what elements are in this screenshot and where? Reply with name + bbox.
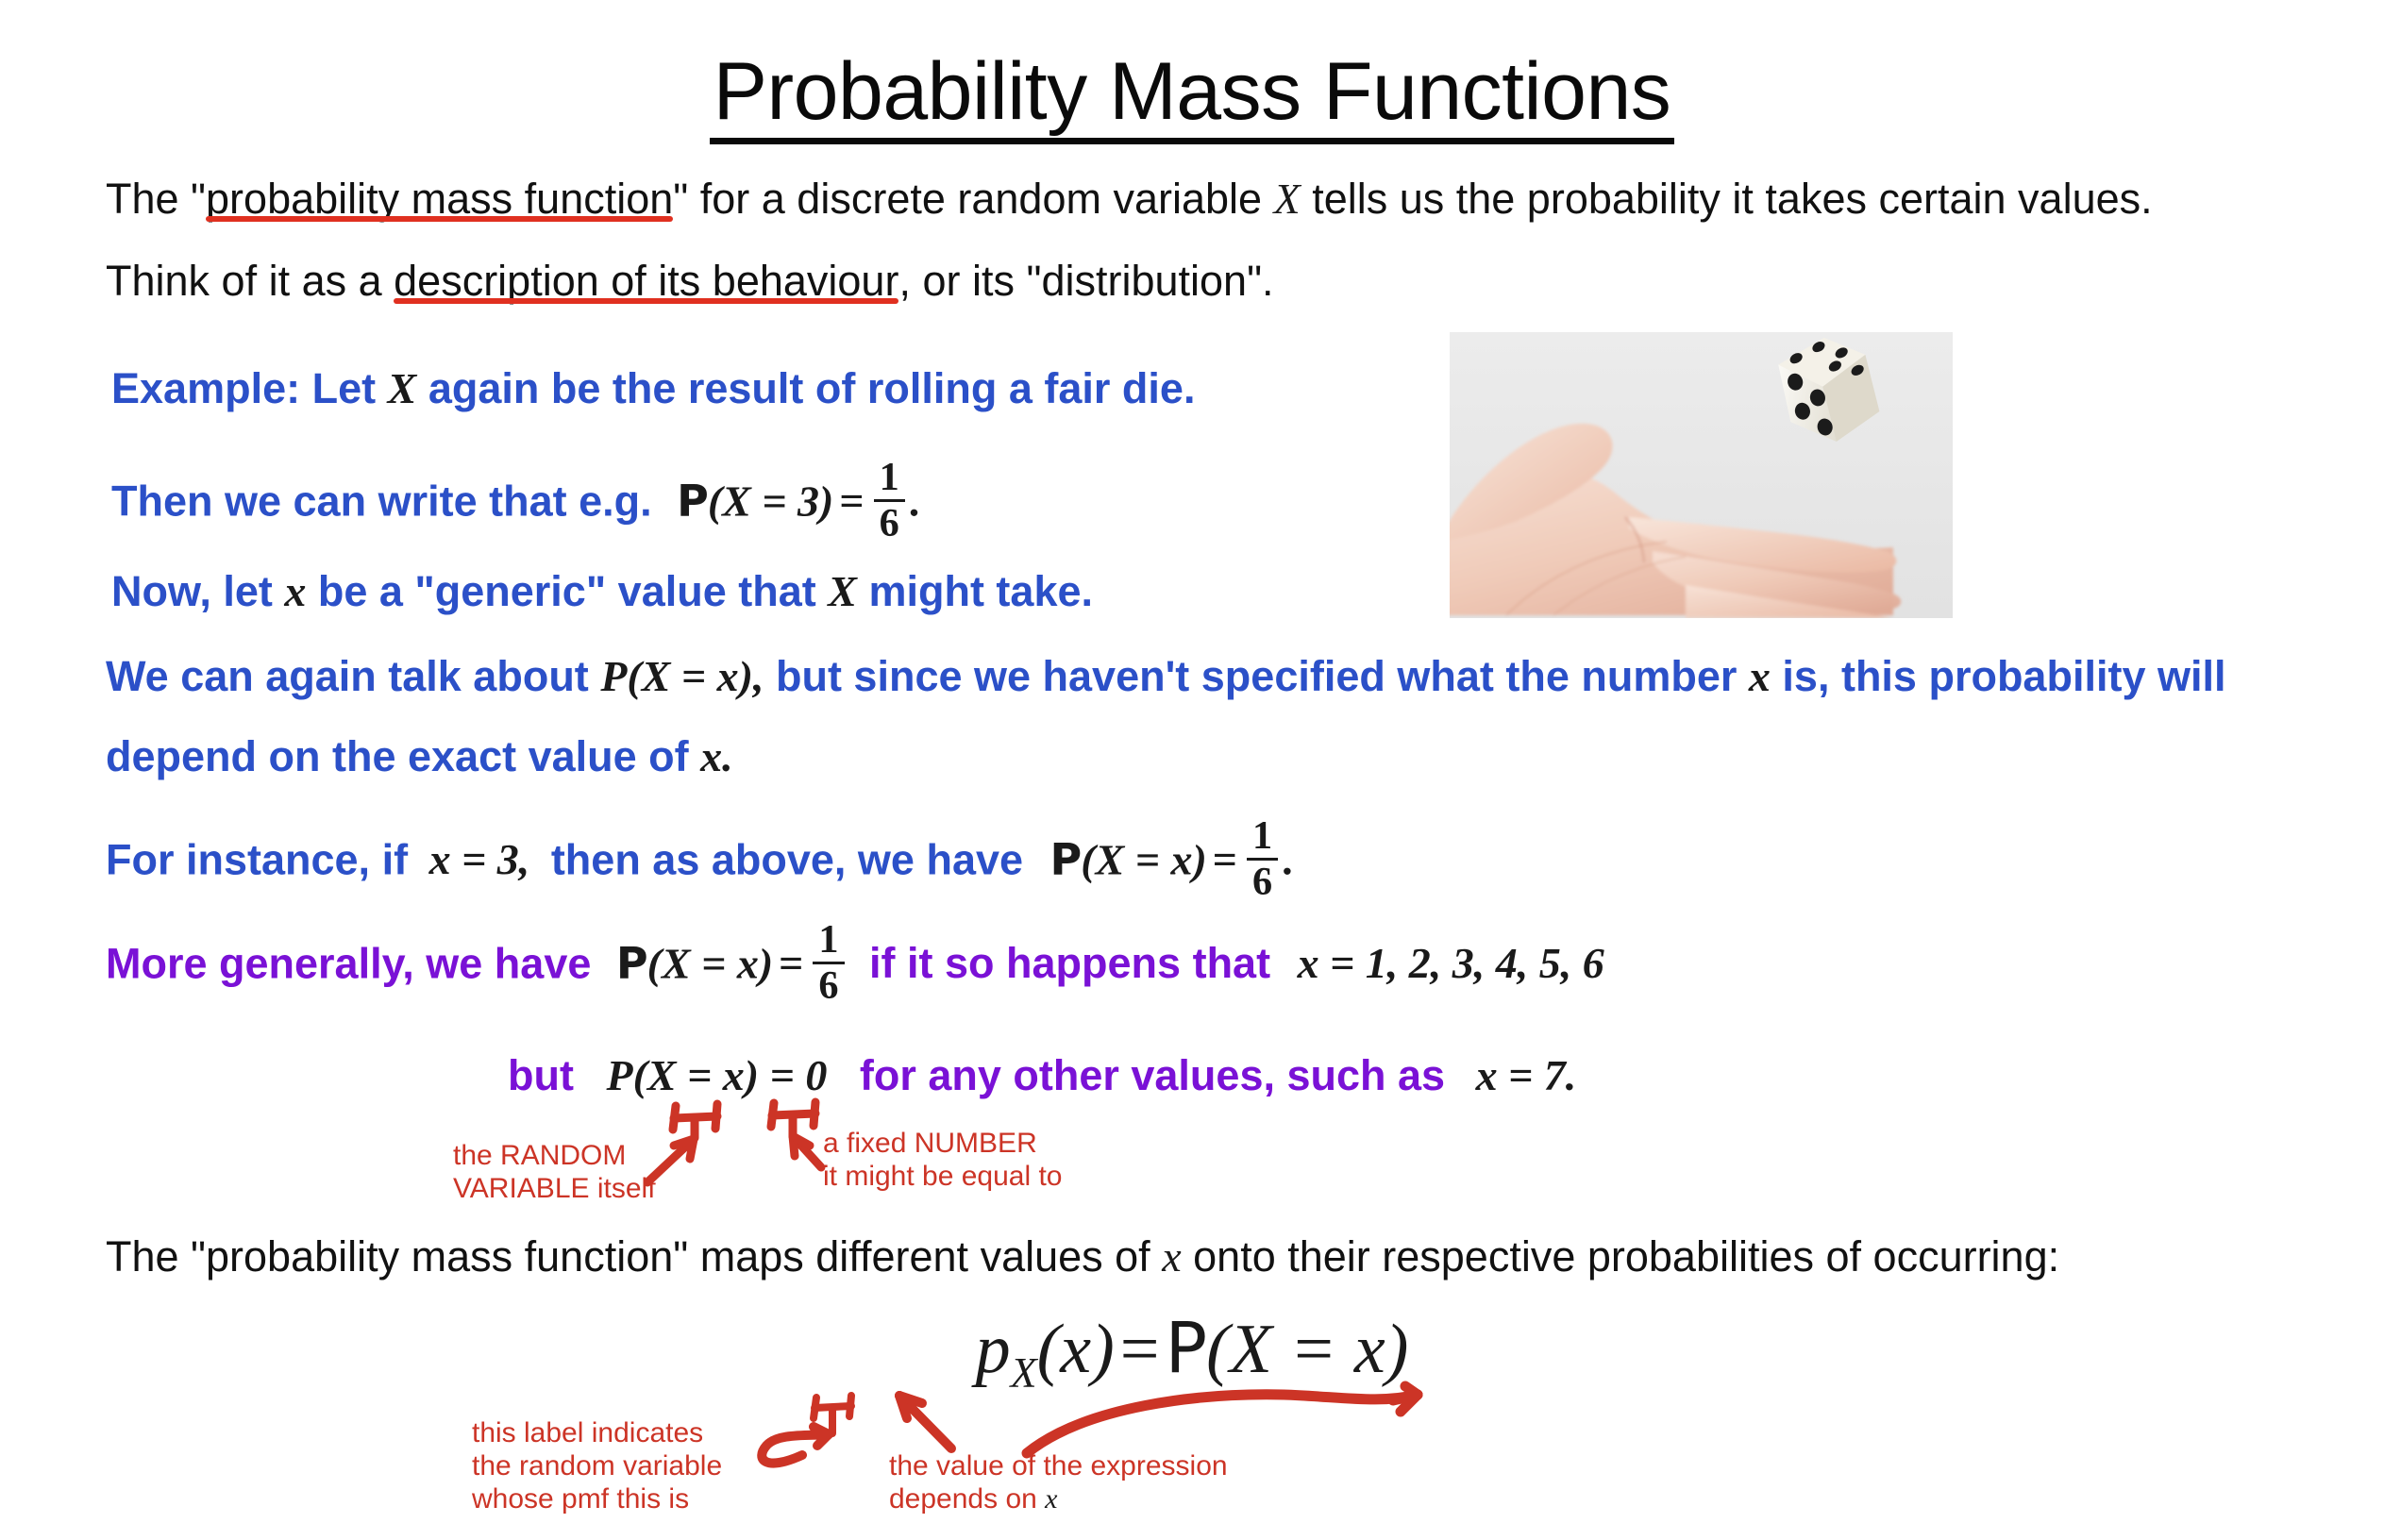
annotation-depends-on-x-line-2: depends on x — [889, 1483, 1228, 1516]
pmf-sentence: The "probability mass function" maps dif… — [106, 1231, 2059, 1281]
example-math-lowercase-x: x — [284, 566, 306, 616]
instance-math-prob-one-sixth: P(X = x)=16. — [1050, 816, 1293, 903]
photo-illustration — [1450, 332, 1953, 618]
example-row-4-part-a: We can again talk about — [106, 652, 589, 700]
brace-under-random-variable — [673, 1104, 717, 1138]
intro-line-1-part-b: " for a discrete random variable — [673, 175, 1262, 223]
annotation-fixed-number-line-2: it might be equal to — [823, 1161, 1063, 1194]
intro-line-1-part-a: The " — [106, 175, 206, 223]
pmf-sentence-part-b: onto their respective probabilities of o… — [1193, 1232, 2059, 1281]
general-math-prob-one-sixth: P(X = x)=16 — [616, 920, 848, 1007]
example-math-uppercase-X-2: X — [828, 566, 857, 616]
arrow-to-fixed-number — [793, 1136, 821, 1167]
annotation-label-indicates-line-2: the random variable — [472, 1450, 722, 1483]
pmf-sentence-part-a: The "probability mass function" maps dif… — [106, 1232, 1150, 1281]
intro-line-2: Think of it as a description of its beha… — [106, 257, 1274, 306]
more-generally-part-a: More generally, we have — [106, 939, 591, 987]
intro-line-2-part-b: , or its "distribution". — [898, 257, 1273, 305]
for-instance-part-a: For instance, if — [106, 835, 408, 883]
intro-underlined-pmf: probability mass function — [206, 175, 673, 224]
more-generally-part-b: if it so happens that — [869, 939, 1270, 987]
annotation-fixed-number-line-1: a fixed NUMBER — [823, 1128, 1063, 1161]
example-row-3: Now, let x be a "generic" value that X m… — [111, 566, 1093, 616]
example-math-x-3: x — [1749, 651, 1771, 701]
annotation-math-x: x — [1045, 1483, 1057, 1516]
intro-line-1: The "probability mass function" for a di… — [106, 174, 2153, 224]
more-generally-row: More generally, we have P(X = x)=16 if i… — [106, 920, 1604, 1007]
example-math-X: X — [388, 363, 417, 413]
example-row-4: We can again talk about P(X = x), but si… — [106, 651, 2225, 701]
intro-math-X: X — [1274, 174, 1301, 224]
annotation-random-variable: the RANDOM VARIABLE itself — [453, 1140, 656, 1206]
example-row-1-part-b: again be the result of rolling a fair di… — [428, 364, 1196, 412]
annotation-random-variable-line-2: VARIABLE itself — [453, 1173, 656, 1206]
hand-tossing-die-photo — [1450, 332, 1953, 618]
intro-line-2-part-a: Think of it as a — [106, 257, 394, 305]
curved-arrow-to-subscript — [762, 1427, 829, 1464]
example-row-4-part-c: is, this probability will — [1782, 652, 2225, 700]
for-instance-row: For instance, if x = 3, then as above, w… — [106, 816, 1293, 903]
example-row-5-text: depend on the exact value of — [106, 732, 689, 780]
instance-math-x-equals-3: x = 3, — [429, 834, 530, 884]
annotation-label-indicates-line-3: whose pmf this is — [472, 1483, 722, 1516]
annotation-depends-on-x-line-1: the value of the expression — [889, 1450, 1228, 1483]
example-row-2-part-a: Then we can write that e.g. — [111, 477, 652, 525]
pmf-sentence-math-x: x — [1162, 1231, 1181, 1281]
for-instance-part-b: then as above, we have — [551, 835, 1023, 883]
annotation-depends-on-x: the value of the expression depends on x — [889, 1450, 1228, 1516]
example-row-3-part-b: be a "generic" value that — [318, 567, 816, 615]
general-math-x-values: x = 1, 2, 3, 4, 5, 6 — [1298, 938, 1604, 988]
example-row-1-part-a: Example: Let — [111, 364, 376, 412]
intro-line-1-part-c: tells us the probability it takes certai… — [1312, 175, 2152, 223]
annotation-label-indicates-line-1: this label indicates — [472, 1417, 722, 1450]
but-row-part-a: but — [508, 1051, 574, 1099]
page-title-text: Probability Mass Functions — [710, 45, 1675, 139]
but-math-x-equals-7: x = 7. — [1476, 1050, 1577, 1100]
example-row-1: Example: Let X again be the result of ro… — [111, 363, 1195, 413]
brace-under-subscript-X — [814, 1396, 851, 1433]
final-formula: pX(x)=P(X = x) — [976, 1308, 1409, 1398]
but-row: but P(X = x) = 0 for any other values, s… — [508, 1050, 1576, 1100]
but-row-part-b: for any other values, such as — [860, 1051, 1445, 1099]
intro-underlined-description: description of its behaviour — [394, 257, 898, 306]
annotation-label-indicates: this label indicates the random variable… — [472, 1417, 722, 1515]
example-row-2: Then we can write that e.g. P(X = 3)=16. — [111, 458, 919, 544]
page-title: Probability Mass Functions — [0, 45, 2384, 139]
slide-canvas: Probability Mass Functions The "probabil… — [0, 0, 2384, 1540]
arrow-to-function-argument — [899, 1396, 951, 1448]
annotation-random-variable-line-1: the RANDOM — [453, 1140, 656, 1173]
brace-under-fixed-number — [771, 1102, 815, 1135]
example-row-3-part-a: Now, let — [111, 567, 273, 615]
but-math-prob-equals-zero: P(X = x) = 0 — [606, 1050, 827, 1100]
annotation-depends-on-x-line-2-text: depends on — [889, 1483, 1037, 1515]
example-math-x-4: x. — [700, 731, 733, 781]
example-row-3-part-c: might take. — [868, 567, 1093, 615]
final-formula-container: pX(x)=P(X = x) — [0, 1308, 2384, 1398]
example-row-4-part-b: but since we haven't specified what the … — [776, 652, 1737, 700]
example-math-P-X-equals-x: P(X = x), — [600, 651, 764, 701]
example-math-p-x-equals-3: P(X = 3)=16. — [677, 458, 919, 544]
example-row-5: depend on the exact value of x. — [106, 731, 733, 781]
annotation-fixed-number: a fixed NUMBER it might be equal to — [823, 1128, 1063, 1194]
